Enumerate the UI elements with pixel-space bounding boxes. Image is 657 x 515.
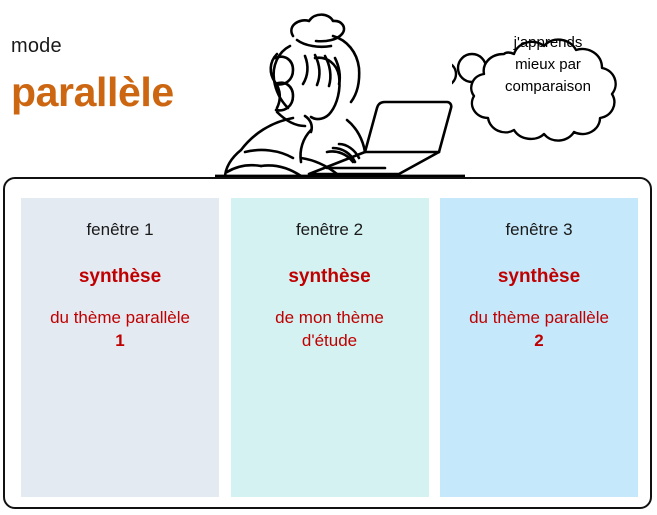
diagram-canvas: mode parallèle bbox=[0, 0, 657, 515]
window-3-label: fenêtre 3 bbox=[440, 220, 638, 240]
window-1-number: 1 bbox=[115, 331, 124, 350]
thought-bubble-text: j'apprends mieux par comparaison bbox=[468, 32, 628, 97]
window-1-description-text: du thème parallèle bbox=[50, 308, 190, 327]
thought-line-3: comparaison bbox=[505, 78, 591, 95]
window-column-3[interactable]: fenêtre 3 synthèse du thème parallèle 2 bbox=[440, 198, 638, 497]
window-column-2[interactable]: fenêtre 2 synthèse de mon thème d'étude bbox=[231, 198, 429, 497]
mode-label: mode bbox=[11, 36, 62, 56]
page-title: parallèle bbox=[11, 72, 174, 113]
windows-panel: fenêtre 1 synthèse du thème parallèle 1 … bbox=[3, 177, 652, 509]
thought-line-1: j'apprends bbox=[514, 34, 583, 51]
window-2-description-text: de mon thème bbox=[275, 308, 384, 327]
window-2-number: d'étude bbox=[302, 331, 357, 350]
person-at-laptop-icon bbox=[215, 0, 465, 178]
window-2-description: de mon thème d'étude bbox=[231, 307, 429, 353]
window-column-1[interactable]: fenêtre 1 synthèse du thème parallèle 1 bbox=[21, 198, 219, 497]
window-1-label: fenêtre 1 bbox=[21, 220, 219, 240]
window-2-label: fenêtre 2 bbox=[231, 220, 429, 240]
window-1-description: du thème parallèle 1 bbox=[21, 307, 219, 353]
header-area: mode parallèle bbox=[0, 0, 657, 178]
window-3-description: du thème parallèle 2 bbox=[440, 307, 638, 353]
thought-line-2: mieux par bbox=[515, 56, 581, 73]
windows-columns: fenêtre 1 synthèse du thème parallèle 1 … bbox=[21, 198, 638, 497]
window-1-heading: synthèse bbox=[21, 266, 219, 289]
window-3-description-text: du thème parallèle bbox=[469, 308, 609, 327]
window-3-heading: synthèse bbox=[440, 266, 638, 289]
window-2-heading: synthèse bbox=[231, 266, 429, 289]
window-3-number: 2 bbox=[534, 331, 543, 350]
